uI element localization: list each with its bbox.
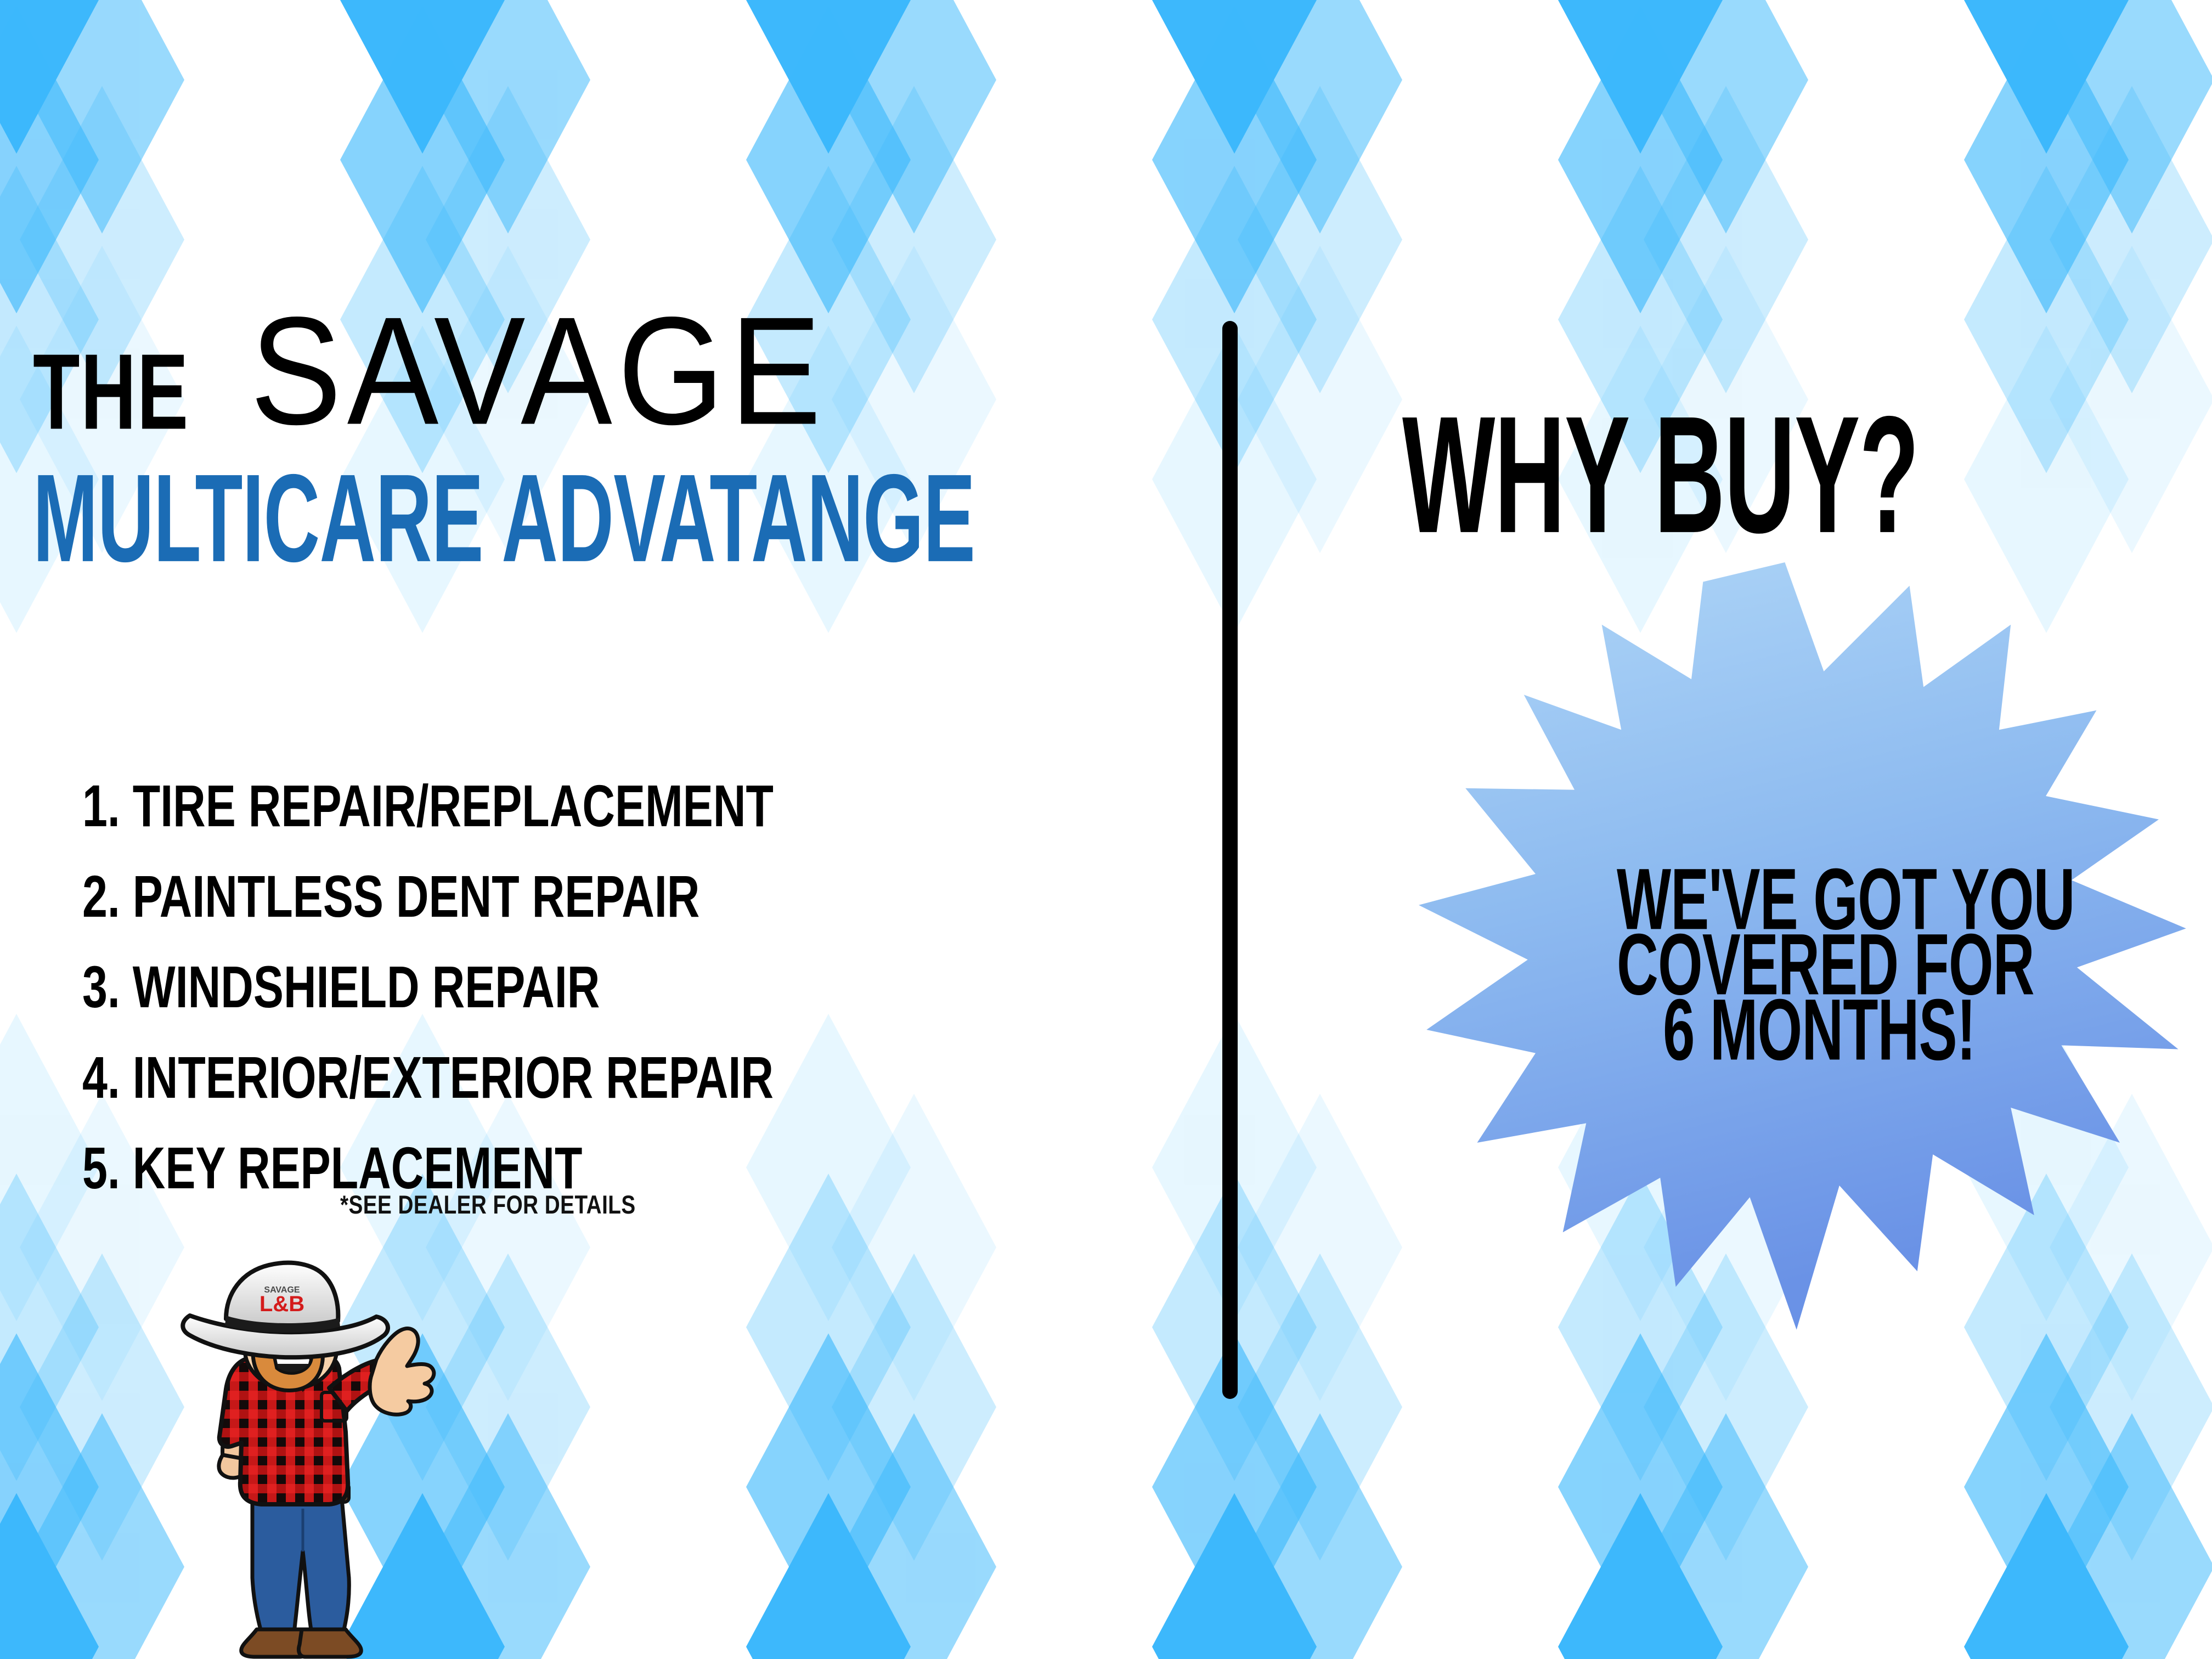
title-line-primary: THE SAVAGE [33, 315, 1185, 442]
title-word-savage: SAVAGE [250, 300, 827, 442]
disclaimer-text: *SEE DEALER FOR DETAILS [340, 1190, 636, 1220]
title-block: THE SAVAGE MULTICARE ADVATANGE [33, 315, 1185, 558]
title-subline: MULTICARE ADVATANGE [33, 446, 955, 590]
title-word-the: THE [33, 343, 189, 442]
right-panel: WHY BUY? WE'VE GOT YOU COVERED FOR 6 MON… [1238, 0, 2212, 1659]
starburst-shape [1419, 562, 2186, 1330]
mascot-boots [241, 1629, 362, 1657]
list-item: 3. WINDSHIELD REPAIR [82, 953, 1026, 1021]
why-buy-headline: WHY BUY? [1402, 379, 1918, 571]
list-item: 2. PAINTLESS DENT REPAIR [82, 863, 1026, 930]
hat-logo-lb-text: L&B [259, 1292, 304, 1316]
list-item: 1. TIRE REPAIR/REPLACEMENT [82, 772, 1026, 840]
list-item: 4. INTERIOR/EXTERIOR REPAIR [82, 1044, 1026, 1111]
vertical-divider [1222, 321, 1238, 1399]
poster-canvas: THE SAVAGE MULTICARE ADVATANGE 1. TIRE R… [0, 0, 2212, 1659]
mascot-cowboy-illustration: SAVAGE L&B [165, 1251, 439, 1659]
mascot-jeans [252, 1492, 349, 1633]
benefit-list: 1. TIRE REPAIR/REPLACEMENT 2. PAINTLESS … [82, 776, 1180, 1229]
mascot-cowboy-hat: SAVAGE L&B [183, 1263, 388, 1357]
starburst-badge: WE'VE GOT YOU COVERED FOR 6 MONTHS! [1419, 562, 2198, 1341]
